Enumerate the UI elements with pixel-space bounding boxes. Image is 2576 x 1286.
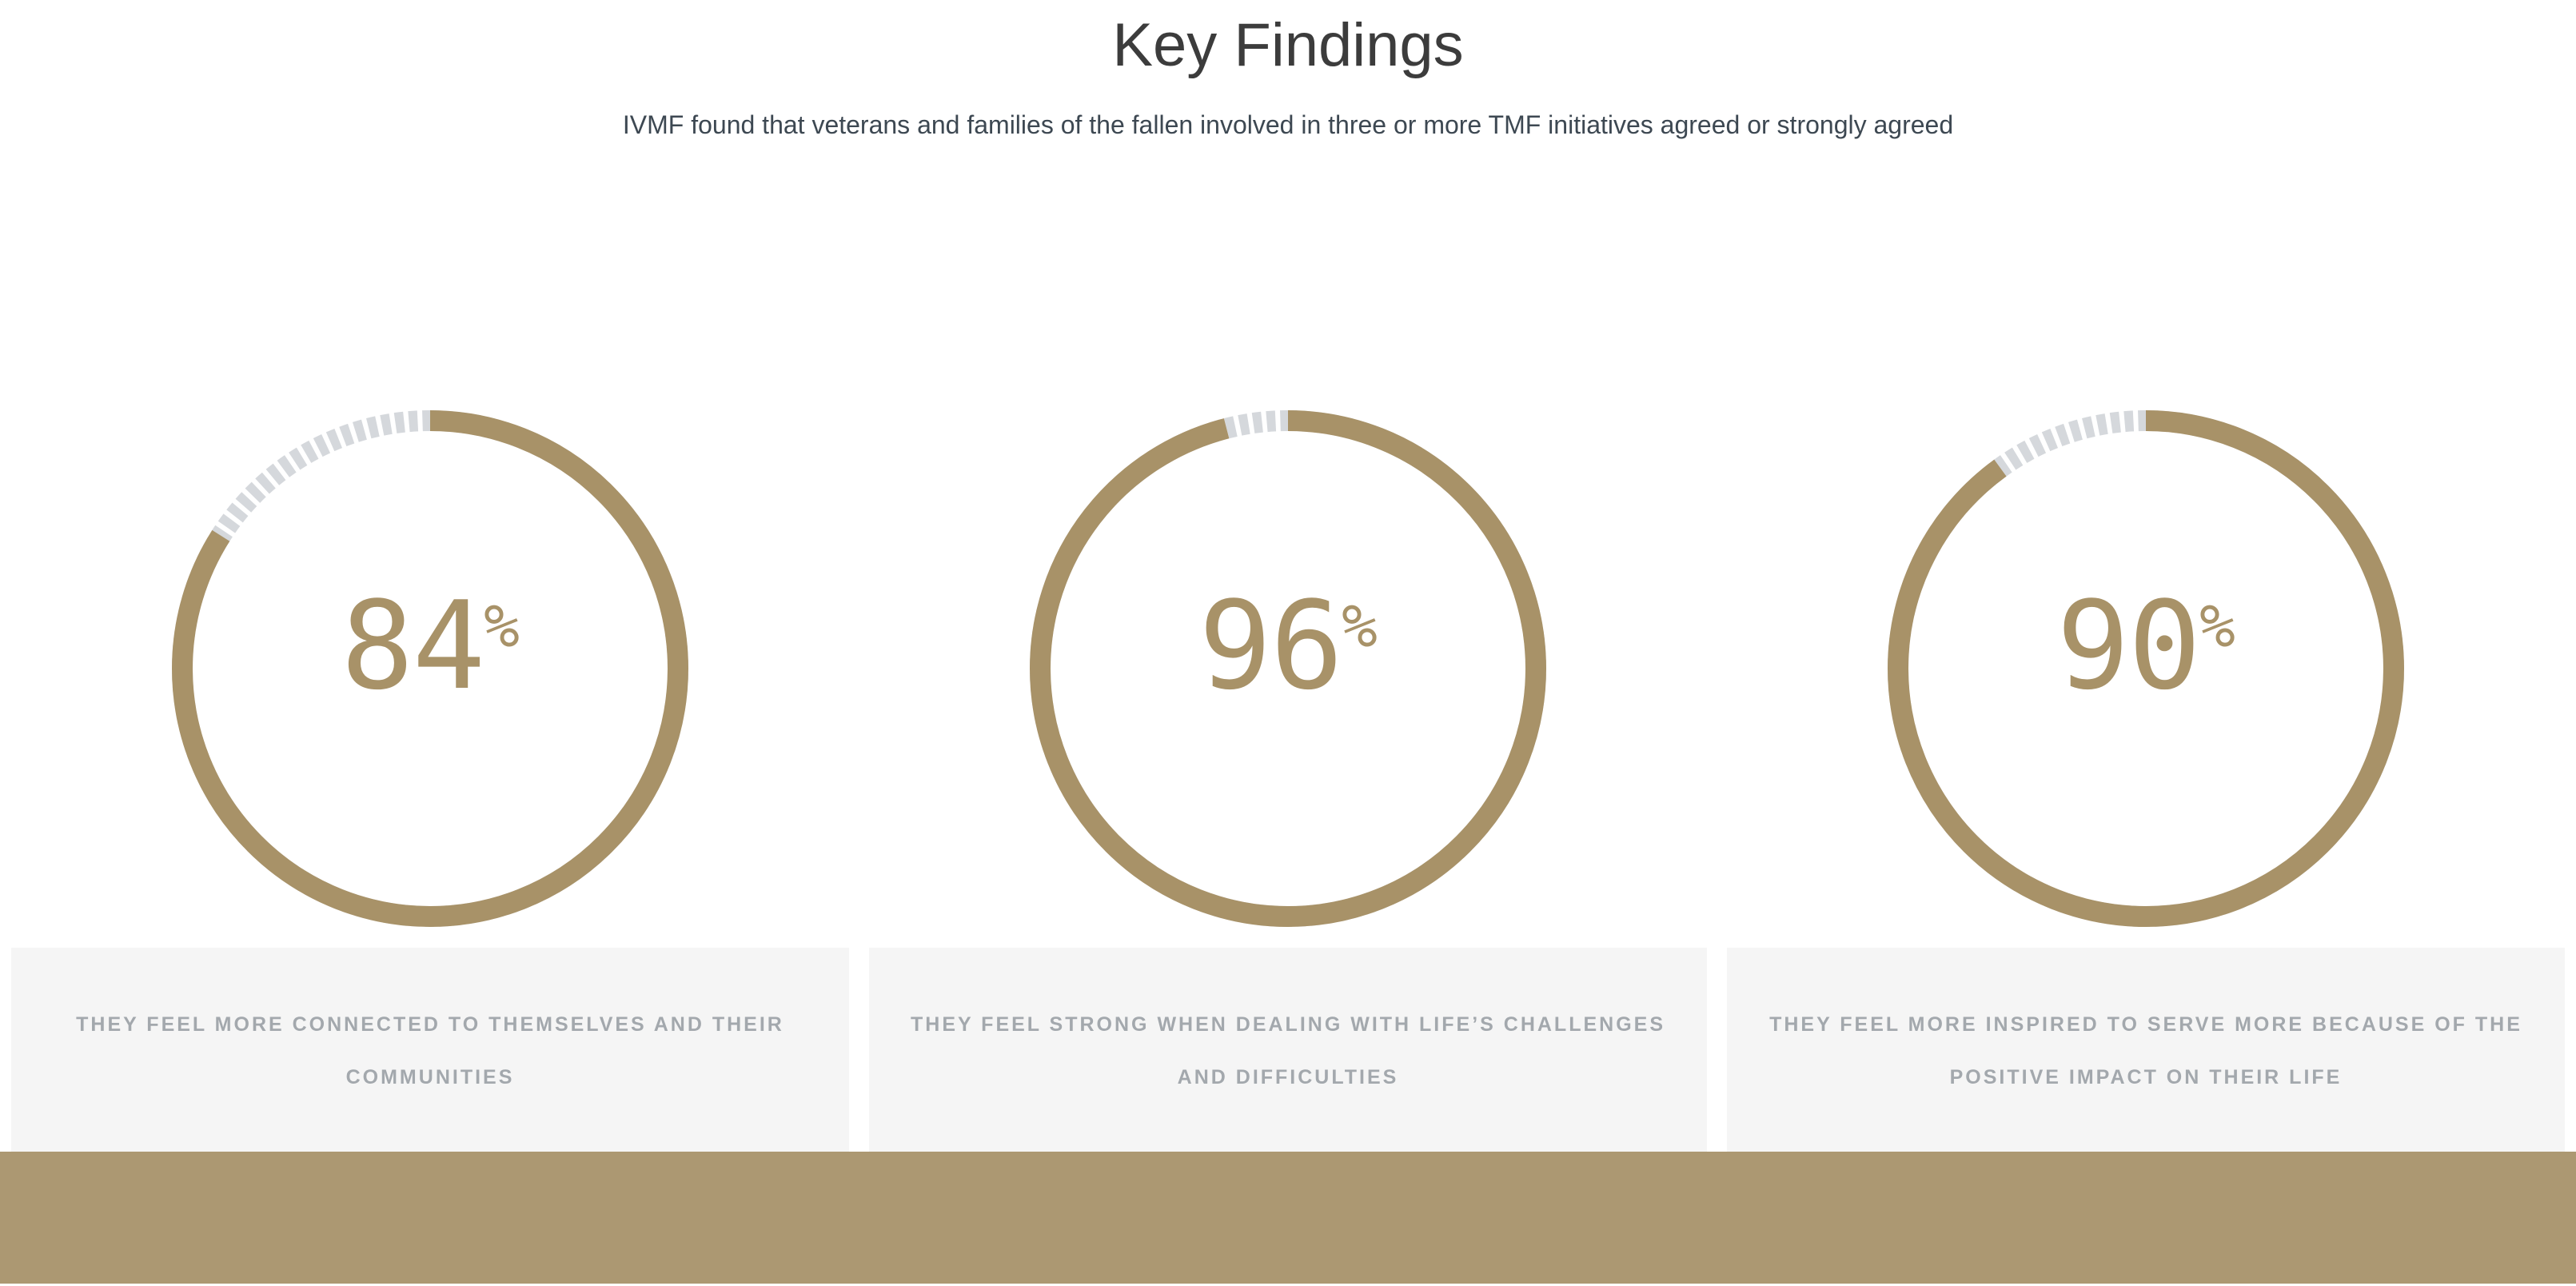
donut-chart-3: 90% (1882, 400, 2410, 937)
caption-text-3: THEY FEEL MORE INSPIRED TO SERVE MORE BE… (1759, 998, 2533, 1104)
donut-number-2: 96 (1198, 575, 1342, 717)
donut-value-3: 90% (1882, 585, 2410, 707)
key-findings-page: Key Findings IVMF found that veterans an… (0, 0, 2576, 1286)
bottom-gold-band (0, 1152, 2576, 1284)
caption-card-3: THEY FEEL MORE INSPIRED TO SERVE MORE BE… (1727, 948, 2565, 1154)
page-header: Key Findings IVMF found that veterans an… (0, 0, 2576, 151)
donut-number-1: 84 (341, 575, 484, 717)
caption-card-2: THEY FEEL STRONG WHEN DEALING WITH LIFE’… (869, 948, 1707, 1154)
donut-chart-row: 84% 96% 90% (0, 400, 2576, 952)
caption-text-2: THEY FEEL STRONG WHEN DEALING WITH LIFE’… (901, 998, 1675, 1104)
donut-cell-1: 84% (11, 400, 849, 952)
page-subtitle: IVMF found that veterans and families of… (568, 80, 2008, 151)
caption-text-1: THEY FEEL MORE CONNECTED TO THEMSELVES A… (43, 998, 817, 1104)
donut-cell-3: 90% (1727, 400, 2565, 952)
percent-symbol-1: % (484, 592, 520, 661)
percent-symbol-3: % (2199, 592, 2235, 661)
caption-card-row: THEY FEEL MORE CONNECTED TO THEMSELVES A… (11, 948, 2565, 1154)
donut-chart-1: 84% (166, 400, 694, 937)
donut-cell-2: 96% (869, 400, 1707, 952)
donut-chart-2: 96% (1024, 400, 1552, 937)
donut-value-1: 84% (166, 585, 694, 707)
percent-symbol-2: % (1342, 592, 1378, 661)
donut-value-2: 96% (1024, 585, 1552, 707)
donut-number-3: 90 (2056, 575, 2199, 717)
caption-card-1: THEY FEEL MORE CONNECTED TO THEMSELVES A… (11, 948, 849, 1154)
page-title: Key Findings (0, 0, 2576, 80)
